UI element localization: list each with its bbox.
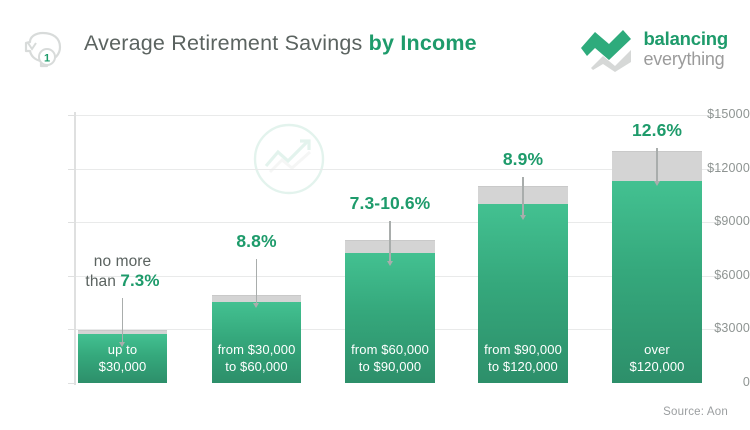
annotation-leader-arrow [520, 215, 526, 220]
bar-category-label-line1: from $30,000 [212, 341, 301, 358]
bar-value-body: from $30,000to $60,000 [212, 302, 301, 383]
annotation-leader-arrow [387, 261, 393, 266]
bar-annotation-text: 8.8% [167, 232, 347, 252]
bar-annotation-percent: 8.9% [503, 149, 543, 169]
gridline [76, 115, 724, 116]
bar-category-label: from $60,000to $90,000 [345, 341, 435, 375]
bar-annotation-line2: than 7.3% [33, 271, 213, 291]
bar-annotation-percent: 8.8% [236, 231, 276, 251]
y-tick-mark [68, 115, 75, 116]
bar-annotation: 12.6% [567, 121, 747, 141]
annotation-leader-line [522, 177, 524, 215]
y-tick-mark [68, 383, 75, 384]
bar-annotation-line1: no more [33, 252, 213, 271]
annotation-leader-arrow [119, 342, 125, 347]
infographic-page: 1 Average Retirement Savings by Income b… [0, 0, 750, 430]
bar-annotation-text: 7.3-10.6% [300, 194, 480, 214]
bar-category-label-line2: to $120,000 [478, 358, 568, 375]
y-tick-mark [68, 222, 75, 223]
bar-value-body: from $60,000to $90,000 [345, 253, 435, 383]
annotation-leader-line [656, 148, 658, 181]
annotation-leader-line [122, 298, 124, 342]
bar-value-body: over$120,000 [612, 181, 702, 383]
bar-category-label-line2: $30,000 [78, 358, 167, 375]
y-tick-mark [68, 329, 75, 330]
bar-category-label-line2: to $60,000 [212, 358, 301, 375]
bar-annotation-text: no morethan 7.3% [33, 252, 213, 291]
bar-annotation: no morethan 7.3% [33, 252, 213, 291]
bar-category-label: from $90,000to $120,000 [478, 341, 568, 375]
bar-category-label: from $30,000to $60,000 [212, 341, 301, 375]
bar-category-label: over$120,000 [612, 341, 702, 375]
bar-annotation-text: 8.9% [433, 150, 613, 170]
bar-annotation-percent: 7.3-10.6% [350, 193, 431, 213]
annotation-leader-arrow [654, 181, 660, 186]
bar-category-label-line1: from $90,000 [478, 341, 568, 358]
chart-plot-area: $15000$12000$9000$6000$30000 up to$30,00… [0, 0, 750, 430]
watermark-logo-icon [252, 122, 326, 196]
bar-annotation: 8.8% [167, 232, 347, 252]
bar-annotation-percent: 7.3% [120, 271, 159, 290]
bar-category-label-line1: from $60,000 [345, 341, 435, 358]
bar-annotation-percent: 12.6% [632, 120, 682, 140]
annotation-leader-arrow [253, 303, 259, 308]
bar-annotation: 8.9% [433, 150, 613, 170]
bar-category-label-line2: $120,000 [612, 358, 702, 375]
bar-annotation: 7.3-10.6% [300, 194, 480, 214]
bar-category-label-line1: over [612, 341, 702, 358]
annotation-leader-line [256, 259, 258, 303]
y-axis-line [74, 112, 76, 385]
bar-category-label-line2: to $90,000 [345, 358, 435, 375]
source-note: Source: Aon [663, 406, 728, 418]
y-tick-mark [68, 169, 75, 170]
annotation-leader-line [389, 221, 391, 261]
y-tick-label: $15000 [684, 107, 750, 121]
bar-value-body: from $90,000to $120,000 [478, 204, 568, 383]
bar-annotation-text: 12.6% [567, 121, 747, 141]
